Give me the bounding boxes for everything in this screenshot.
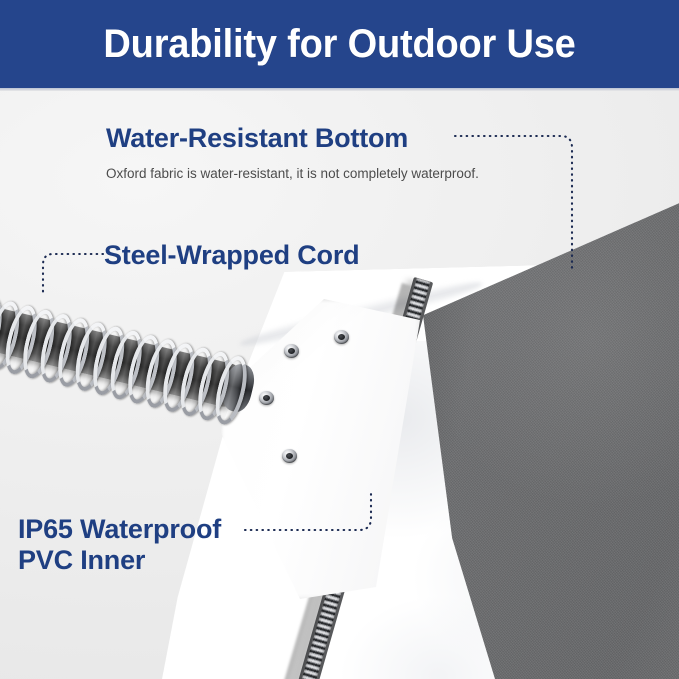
header-banner: Durability for Outdoor Use (0, 0, 679, 88)
callout-subtitle-water-resistant-bottom: Oxford fabric is water-resistant, it is … (106, 166, 479, 181)
callout-title-ip65-waterproof-pvc-inner: IP65 Waterproof PVC Inner (18, 514, 221, 576)
page-title: Durability for Outdoor Use (103, 22, 575, 67)
rivet (259, 391, 274, 405)
rivet (334, 330, 349, 344)
callout-title-steel-wrapped-cord: Steel-Wrapped Cord (104, 240, 359, 271)
rivet (282, 449, 297, 463)
callout-title-water-resistant-bottom: Water-Resistant Bottom (106, 123, 408, 154)
coiled-steel-cord (0, 273, 266, 479)
rivet (284, 344, 299, 358)
product-feature-image: Durability for Outdoor Use (0, 0, 679, 679)
